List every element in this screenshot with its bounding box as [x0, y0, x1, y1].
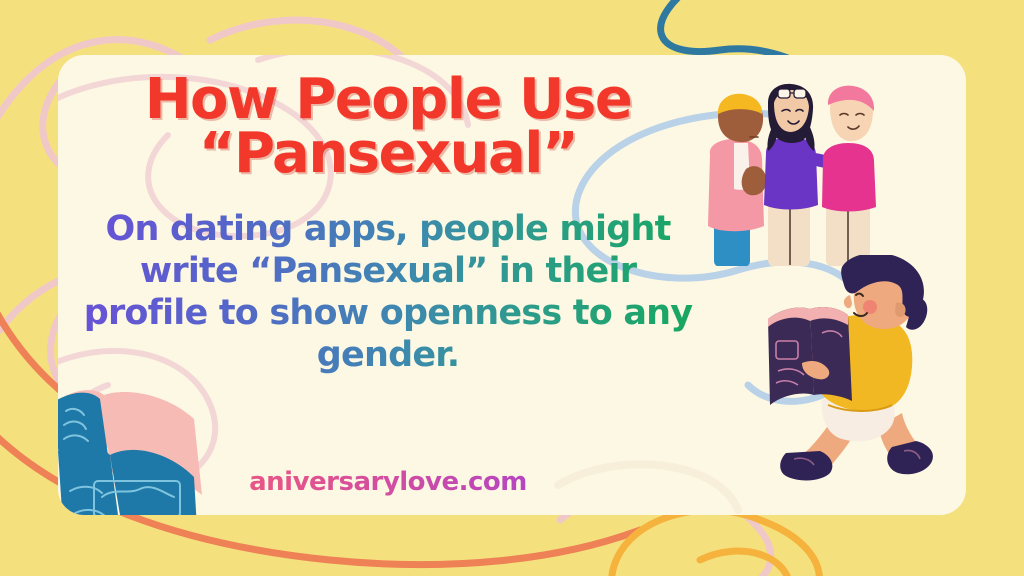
page-title: How People Use “Pansexual” — [68, 73, 708, 182]
person-pink-hair — [822, 86, 876, 266]
child-reading-book-illustration — [758, 255, 966, 490]
poster-canvas: How People Use “Pansexual” On dating app… — [0, 0, 1024, 576]
open-book-held — [768, 307, 852, 405]
text-column: How People Use “Pansexual” On dating app… — [68, 73, 708, 376]
reader-boots — [780, 441, 933, 480]
three-friends-illustration — [690, 81, 905, 266]
orange-swirl — [612, 510, 819, 576]
content-card: How People Use “Pansexual” On dating app… — [58, 55, 966, 515]
open-book-illustration — [58, 385, 213, 515]
body-paragraph: On dating apps, people might write “Pans… — [68, 208, 708, 376]
person-yellow-hair — [708, 94, 766, 266]
